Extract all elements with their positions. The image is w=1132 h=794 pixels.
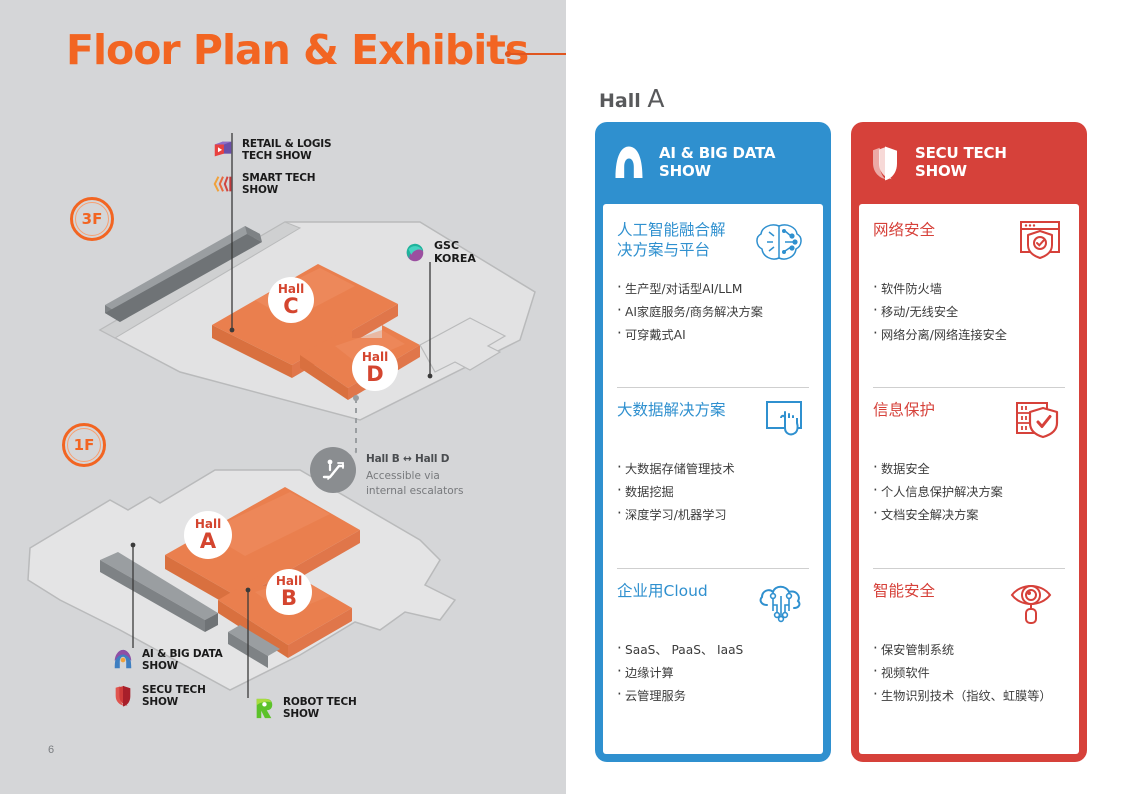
- section-enterprise-cloud-items: SaaS、 PaaS、 IaaS 边缘计算 云管理服务: [617, 643, 809, 703]
- eye-surveillance-icon: [1007, 579, 1065, 627]
- card-secu-tech-show[interactable]: SECU TECH SHOW 网络安全: [851, 122, 1087, 762]
- section-network-security-head: 网络安全: [873, 220, 1065, 272]
- hall-marker-c: Hall C: [268, 277, 314, 323]
- section-information-protection-items: 数据安全 个人信息保护解决方案 文档安全解决方案: [873, 462, 1065, 522]
- legend-smart-tech-label: SMART TECH SHOW: [242, 172, 315, 196]
- escalator-title: Hall B ↔ Hall D: [366, 453, 463, 465]
- hall-marker-b: Hall B: [266, 569, 312, 615]
- escalator-icon: [310, 447, 356, 493]
- list-item: 大数据存储管理技术: [617, 462, 809, 476]
- card-ai-body: 人工智能融合解 决方案与平台: [603, 204, 823, 754]
- hall-heading-prefix: Hall: [599, 90, 647, 112]
- isometric-floorplan-graphic: [0, 0, 566, 794]
- floor-plan-panel: Floor Plan & Exhibits: [0, 0, 566, 794]
- card-secu-body: 网络安全 软件防火墙 移动/无线安全 网络分离/网络连接安全: [859, 204, 1079, 754]
- brain-circuit-icon: [751, 218, 809, 266]
- page-number: 6: [48, 744, 54, 756]
- hall-marker-c-letter: C: [283, 295, 298, 317]
- card-ai-title: AI & BIG DATA SHOW: [659, 145, 775, 180]
- floor-badge-3f-label: 3F: [75, 202, 109, 236]
- ai-person-a-icon: [611, 143, 647, 183]
- legend-retail-logis-tech-show: RETAIL & LOGIS TECH SHOW: [212, 138, 331, 162]
- secu-tech-shield-icon: [112, 684, 134, 708]
- list-item: 个人信息保护解决方案: [873, 485, 1065, 499]
- section-enterprise-cloud-head: 企业用Cloud: [617, 581, 809, 633]
- section-intelligent-security-head: 智能安全: [873, 581, 1065, 633]
- card-secu-header: SECU TECH SHOW: [851, 122, 1087, 204]
- hall-heading: Hall A: [599, 84, 664, 113]
- ai-big-data-a-icon: [112, 648, 134, 672]
- floor-badge-3f: 3F: [70, 197, 114, 241]
- legend-ai-big-data-label: AI & BIG DATA SHOW: [142, 648, 223, 672]
- section-information-protection-title: 信息保护: [873, 400, 935, 420]
- section-information-protection-head: 信息保护: [873, 400, 1065, 452]
- escalator-text: Hall B ↔ Hall D Accessible via internal …: [366, 447, 463, 499]
- card-ai-big-data-show[interactable]: AI & BIG DATA SHOW 人工智能融合解 决方案与平台: [595, 122, 831, 762]
- legend-ai-big-data-show: AI & BIG DATA SHOW: [112, 648, 223, 672]
- list-item: 移动/无线安全: [873, 305, 1065, 319]
- list-item: 云管理服务: [617, 689, 809, 703]
- section-information-protection: 信息保护 数据安全 个人信息保护解决方案 文档安: [873, 387, 1065, 567]
- section-ai-platform-head: 人工智能融合解 决方案与平台: [617, 220, 809, 272]
- section-intelligent-security: 智能安全 保安管制系统 视频软件 生物识别技术（指纹、虹膜等）: [873, 568, 1065, 748]
- card-secu-title: SECU TECH SHOW: [915, 145, 1007, 180]
- floor-1f-graphic: [28, 470, 455, 698]
- floor-badge-1f: 1F: [62, 423, 106, 467]
- touch-hand-screen-icon: [761, 398, 809, 442]
- section-ai-platform-items: 生产型/对话型AI/LLM AI家庭服务/商务解决方案 可穿戴式AI: [617, 282, 809, 342]
- section-ai-platform: 人工智能融合解 决方案与平台: [617, 208, 809, 387]
- list-item: 可穿戴式AI: [617, 328, 809, 342]
- list-item: 视频软件: [873, 666, 1065, 680]
- list-item: AI家庭服务/商务解决方案: [617, 305, 809, 319]
- section-ai-platform-title: 人工智能融合解 决方案与平台: [617, 220, 726, 261]
- gsc-korea-sphere-icon: [404, 241, 426, 265]
- escalator-note: Hall B ↔ Hall D Accessible via internal …: [310, 447, 463, 499]
- section-intelligent-security-items: 保安管制系统 视频软件 生物识别技术（指纹、虹膜等）: [873, 643, 1065, 703]
- section-network-security-title: 网络安全: [873, 220, 935, 240]
- list-item: 数据挖掘: [617, 485, 809, 499]
- list-item: 边缘计算: [617, 666, 809, 680]
- robot-tech-r-icon: [253, 696, 275, 720]
- section-big-data-title: 大数据解决方案: [617, 400, 726, 420]
- hall-marker-d-letter: D: [366, 363, 383, 385]
- server-shield-check-icon: [1011, 398, 1065, 446]
- card-ai-header: AI & BIG DATA SHOW: [595, 122, 831, 204]
- legend-secu-tech-label: SECU TECH SHOW: [142, 684, 206, 708]
- list-item: 生产型/对话型AI/LLM: [617, 282, 809, 296]
- hall-marker-a: Hall A: [184, 511, 232, 559]
- list-item: 网络分离/网络连接安全: [873, 328, 1065, 342]
- browser-shield-check-icon: [1013, 218, 1065, 266]
- legend-gsc-korea: GSC KOREA: [404, 240, 476, 265]
- list-item: 软件防火墙: [873, 282, 1065, 296]
- legend-robot-tech-label: ROBOT TECH SHOW: [283, 696, 357, 720]
- escalator-subtitle: Accessible via internal escalators: [366, 469, 463, 499]
- hall-heading-letter: A: [647, 84, 664, 113]
- hall-marker-b-letter: B: [281, 587, 297, 609]
- list-item: SaaS、 PaaS、 IaaS: [617, 643, 809, 657]
- list-item: 保安管制系统: [873, 643, 1065, 657]
- hall-marker-d: Hall D: [352, 345, 398, 391]
- section-intelligent-security-title: 智能安全: [873, 581, 935, 601]
- section-big-data: 大数据解决方案 大数据存储管理技术 数据挖掘 深度学习/机器学习: [617, 387, 809, 567]
- section-network-security: 网络安全 软件防火墙 移动/无线安全 网络分离/网络连接安全: [873, 208, 1065, 387]
- legend-smart-tech-show: SMART TECH SHOW: [212, 172, 315, 196]
- hall-marker-a-letter: A: [200, 530, 216, 552]
- list-item: 文档安全解决方案: [873, 508, 1065, 522]
- floor-badge-1f-label: 1F: [67, 428, 101, 462]
- list-item: 深度学习/机器学习: [617, 508, 809, 522]
- section-big-data-head: 大数据解决方案: [617, 400, 809, 452]
- section-enterprise-cloud: 企业用Cloud: [617, 568, 809, 748]
- section-enterprise-cloud-title: 企业用Cloud: [617, 581, 708, 601]
- exhibits-panel: Hall A AI & BIG DATA SHOW 人工智能融合解 决方案与平台: [566, 0, 1132, 794]
- legend-retail-logis-label: RETAIL & LOGIS TECH SHOW: [242, 138, 331, 162]
- legend-secu-tech-show: SECU TECH SHOW: [112, 684, 206, 708]
- retail-logis-cube-icon: [212, 138, 234, 162]
- shield-layers-icon: [867, 143, 903, 183]
- cloud-network-icon: [753, 579, 809, 627]
- section-big-data-items: 大数据存储管理技术 数据挖掘 深度学习/机器学习: [617, 462, 809, 522]
- list-item: 数据安全: [873, 462, 1065, 476]
- legend-robot-tech-show: ROBOT TECH SHOW: [253, 696, 357, 720]
- legend-gsc-korea-label: GSC KOREA: [434, 240, 476, 265]
- list-item: 生物识别技术（指纹、虹膜等）: [873, 689, 1065, 703]
- section-network-security-items: 软件防火墙 移动/无线安全 网络分离/网络连接安全: [873, 282, 1065, 342]
- floor-3f-graphic: [100, 133, 535, 470]
- smart-tech-bracket-icon: [212, 172, 234, 196]
